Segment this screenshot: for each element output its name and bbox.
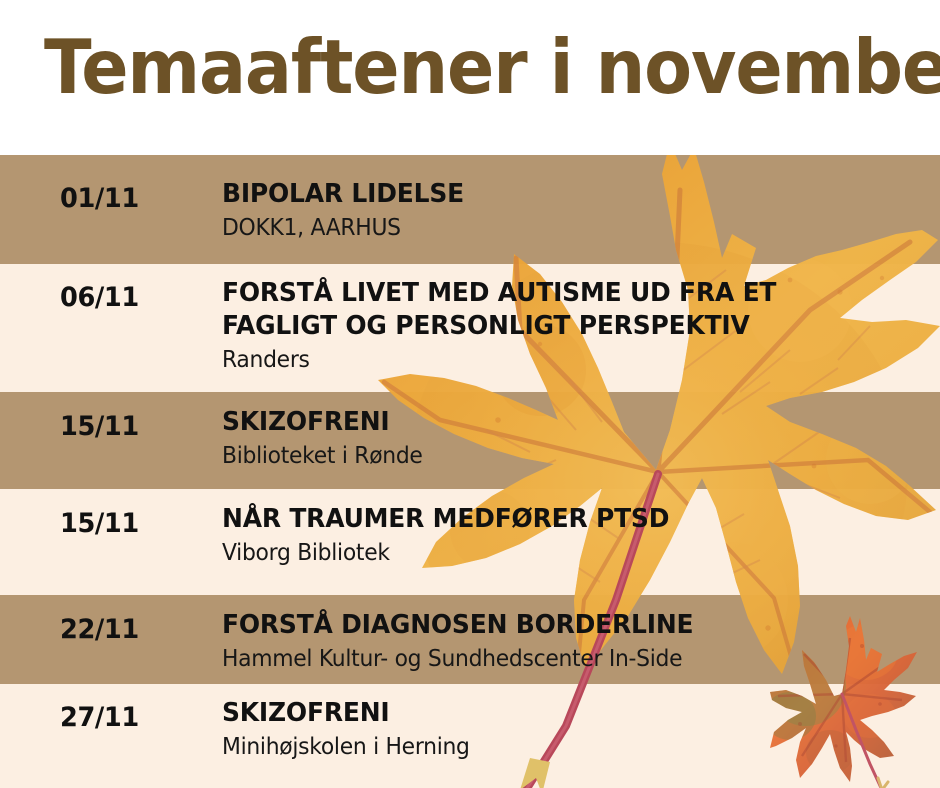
row-band-5 <box>0 595 940 684</box>
row-band-2 <box>0 264 940 392</box>
title-band: Temaaftener i november <box>0 0 940 155</box>
row-band-3 <box>0 392 940 489</box>
row-band-6 <box>0 684 940 788</box>
row-band-1 <box>0 155 940 264</box>
poster-canvas: Temaaftener i november 01/11BIPOLAR LIDE… <box>0 0 940 788</box>
row-band-4 <box>0 489 940 595</box>
page-title: Temaaftener i november <box>44 28 940 107</box>
